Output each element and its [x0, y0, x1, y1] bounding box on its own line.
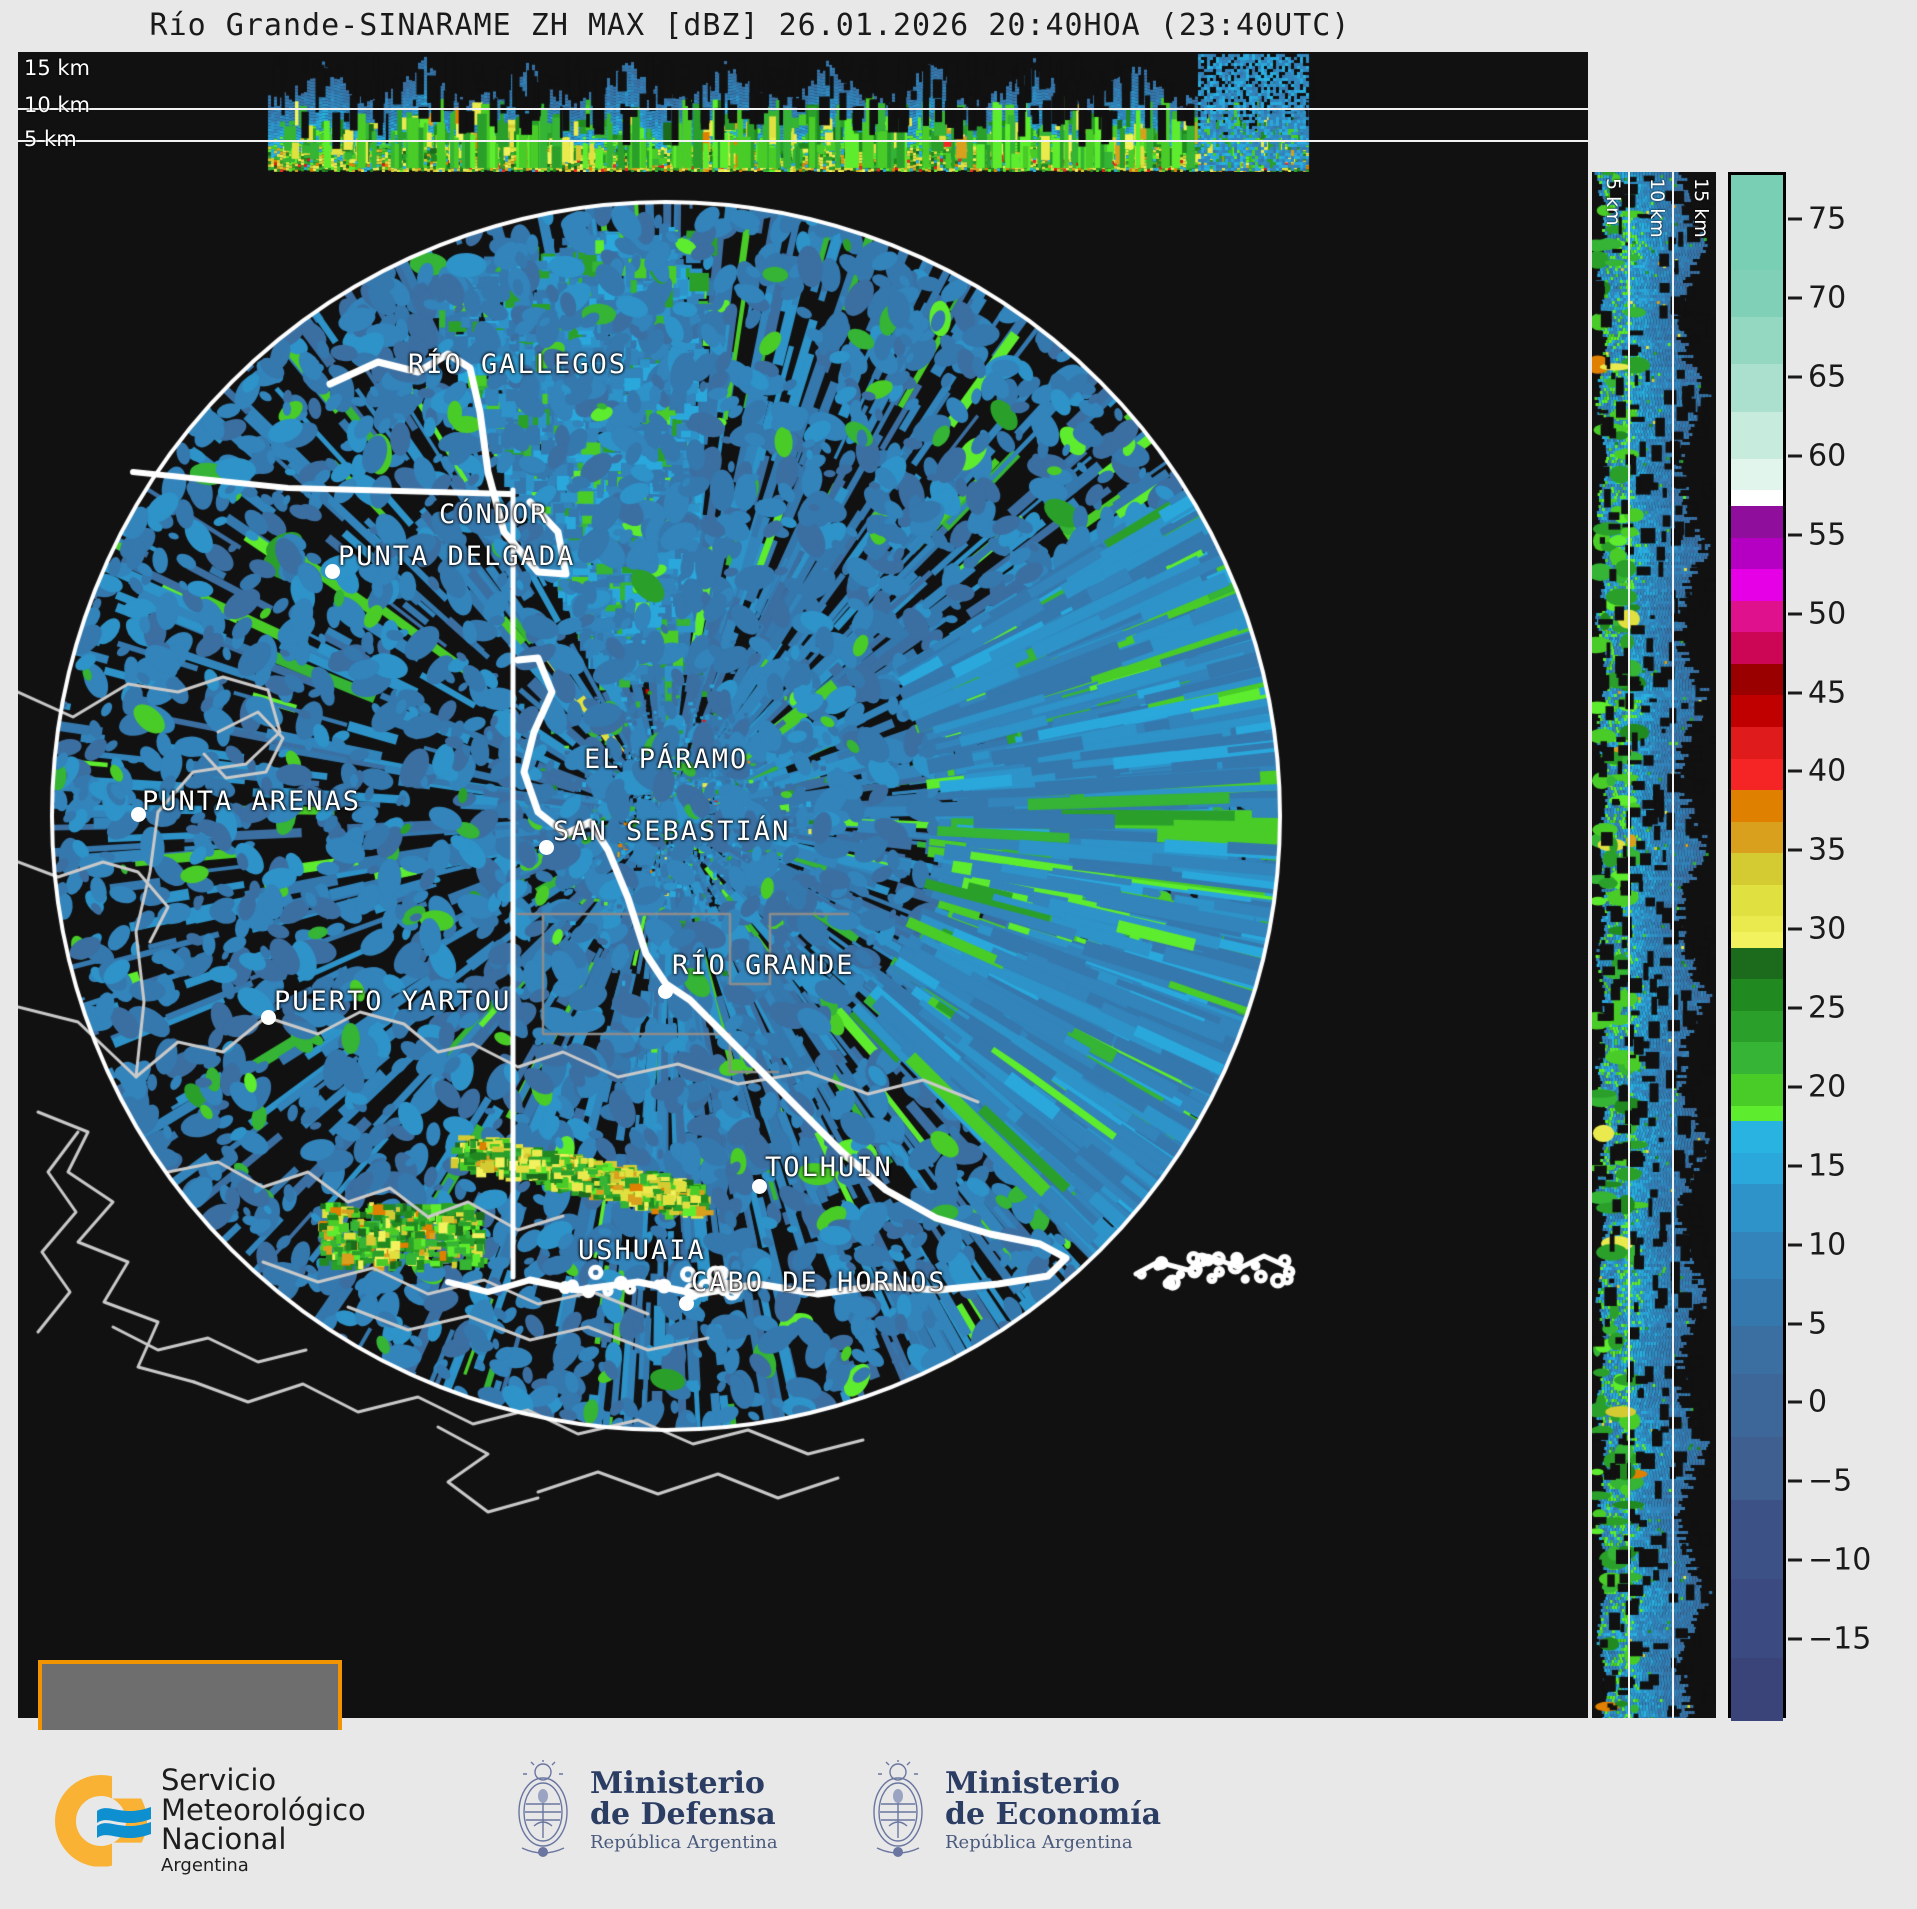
colorbar-segment — [1731, 1074, 1783, 1106]
colorbar-tick-mark — [1788, 1164, 1802, 1167]
colorbar-tick-mark — [1788, 928, 1802, 931]
logo-ministerio-de-economia: Ministerio de Economía República Argenti… — [865, 1760, 1161, 1860]
colorbar-tick: 5 — [1788, 1306, 1827, 1341]
height-label-15km: 15 km — [24, 56, 90, 80]
colorbar-segment — [1731, 790, 1783, 822]
logo-servicio-meteorologico-nacional: Servicio Meteorológico Nacional Argentin… — [55, 1766, 366, 1875]
ministerio-defensa-text: Ministerio de Defensa República Argentin… — [590, 1768, 778, 1853]
city-marker-san-sebasti-n — [539, 840, 554, 855]
colorbar-tick: 70 — [1788, 281, 1846, 316]
colorbar-tick: 35 — [1788, 833, 1846, 868]
colorbar-tick: 50 — [1788, 596, 1846, 631]
smn-logo-text: Servicio Meteorológico Nacional Argentin… — [161, 1766, 366, 1875]
colorbar-tick-label: 50 — [1808, 596, 1846, 631]
colorbar-tick-label: 75 — [1808, 202, 1846, 237]
height-label-v-5km: 5 km — [1602, 178, 1624, 226]
colorbar-tick-mark — [1788, 1480, 1802, 1483]
colorbar-tick-mark — [1788, 612, 1802, 615]
colorbar — [1728, 172, 1788, 1718]
colorbar-segment — [1731, 932, 1783, 948]
colorbar-tick-label: 20 — [1808, 1069, 1846, 1104]
city-marker-puerto-yartou — [261, 1010, 276, 1025]
colorbar-tick-label: 30 — [1808, 912, 1846, 947]
colorbar-tick-label: 5 — [1808, 1306, 1827, 1341]
smn-sub: Argentina — [161, 1857, 366, 1875]
colorbar-tick-mark — [1788, 849, 1802, 852]
height-label-v-15km: 15 km — [1690, 178, 1712, 238]
colorbar-tick-mark — [1788, 533, 1802, 536]
smn-logo-icon — [55, 1775, 147, 1867]
colorbar-segment — [1731, 1279, 1783, 1326]
colorbar-tick-label: 10 — [1808, 1227, 1846, 1262]
colorbar-tick-label: 40 — [1808, 754, 1846, 789]
colorbar-tick-label: 60 — [1808, 438, 1846, 473]
colorbar-segment — [1731, 1232, 1783, 1279]
colorbar-tick-mark — [1788, 691, 1802, 694]
defensa-line-1: Ministerio — [590, 1768, 778, 1800]
colorbar-tick-label: 15 — [1808, 1148, 1846, 1183]
height-label-v-10km: 10 km — [1646, 178, 1668, 238]
right-cross-section-panel: 5 km 10 km 15 km — [1592, 172, 1716, 1718]
colorbar-tick-mark — [1788, 1007, 1802, 1010]
colorbar-segment — [1731, 601, 1783, 633]
colorbar-segment — [1731, 1658, 1783, 1721]
colorbar-segment — [1731, 1042, 1783, 1074]
colorbar-segment — [1731, 916, 1783, 932]
colorbar-segment — [1731, 885, 1783, 917]
colorbar-tick: 60 — [1788, 438, 1846, 473]
colorbar-segment — [1731, 979, 1783, 1011]
colorbar-tick-mark — [1788, 1638, 1802, 1641]
colorbar-tick: 0 — [1788, 1385, 1827, 1420]
colorbar-tick-mark — [1788, 376, 1802, 379]
colorbar-tick: 20 — [1788, 1069, 1846, 1104]
height-label-5km: 5 km — [24, 127, 77, 151]
colorbar-tick-mark — [1788, 297, 1802, 300]
smn-wave-icon — [95, 1802, 153, 1842]
city-marker-cabo-de-hornos — [679, 1296, 694, 1311]
colorbar-tick-mark — [1788, 1401, 1802, 1404]
height-gridline-10km — [18, 108, 1588, 110]
smn-line-2: Meteorológico — [161, 1796, 366, 1826]
colorbar-tick: 25 — [1788, 991, 1846, 1026]
colorbar-segment — [1731, 1184, 1783, 1231]
colorbar-tick-labels: 757065605550454035302520151050−5−10−15 — [1788, 172, 1908, 1718]
colorbar-segment — [1731, 1011, 1783, 1043]
right-cross-section-canvas — [1592, 172, 1716, 1718]
colorbar-tick-label: 65 — [1808, 360, 1846, 395]
colorbar-segment — [1731, 1106, 1783, 1122]
colorbar-tick: 65 — [1788, 360, 1846, 395]
economia-sub: República Argentina — [945, 1834, 1161, 1853]
colorbar-gradient — [1728, 172, 1786, 1718]
top-cross-section-canvas — [18, 52, 1588, 172]
colorbar-segment — [1731, 632, 1783, 664]
colorbar-tick-label: 35 — [1808, 833, 1846, 868]
logo-ministerio-de-defensa: Ministerio de Defensa República Argentin… — [510, 1760, 778, 1860]
economia-line-2: de Economía — [945, 1799, 1161, 1831]
argentina-coat-of-arms-icon-2 — [865, 1760, 931, 1860]
colorbar-segment — [1731, 538, 1783, 570]
height-gridline-5km — [18, 140, 1588, 142]
colorbar-tick-mark — [1788, 218, 1802, 221]
colorbar-segment — [1731, 412, 1783, 459]
colorbar-tick-mark — [1788, 454, 1802, 457]
colorbar-tick-mark — [1788, 770, 1802, 773]
colorbar-segment — [1731, 1153, 1783, 1185]
economia-line-1: Ministerio — [945, 1768, 1161, 1800]
colorbar-segment — [1731, 1326, 1783, 1373]
colorbar-segment — [1731, 270, 1783, 317]
colorbar-segment — [1731, 490, 1783, 506]
colorbar-segment — [1731, 1437, 1783, 1500]
colorbar-segment — [1731, 759, 1783, 791]
colorbar-tick: −5 — [1788, 1464, 1852, 1499]
height-label-10km: 10 km — [24, 93, 90, 117]
colorbar-tick-label: 55 — [1808, 517, 1846, 552]
footer-logos: Servicio Meteorológico Nacional Argentin… — [0, 1730, 1917, 1909]
colorbar-segment — [1731, 459, 1783, 491]
colorbar-tick-label: −10 — [1808, 1543, 1871, 1578]
page-title: Río Grande-SINARAME ZH MAX [dBZ] 26.01.2… — [0, 8, 1500, 43]
smn-line-1: Servicio — [161, 1766, 366, 1796]
top-cross-section-panel: 15 km 10 km 5 km — [18, 52, 1588, 172]
height-gridline-v-10km — [1672, 172, 1674, 1718]
colorbar-tick-label: 45 — [1808, 675, 1846, 710]
colorbar-segment — [1731, 1500, 1783, 1579]
city-marker-punta-arenas — [131, 807, 146, 822]
colorbar-tick: 45 — [1788, 675, 1846, 710]
colorbar-tick-mark — [1788, 1243, 1802, 1246]
colorbar-segment — [1731, 853, 1783, 885]
height-gridline-v-5km — [1628, 172, 1630, 1718]
colorbar-segment — [1731, 175, 1783, 222]
colorbar-segment — [1731, 695, 1783, 727]
colorbar-tick-label: 70 — [1808, 281, 1846, 316]
colorbar-tick: 55 — [1788, 517, 1846, 552]
city-marker-punta-delgada — [325, 564, 340, 579]
colorbar-segment — [1731, 948, 1783, 980]
colorbar-tick: 10 — [1788, 1227, 1846, 1262]
colorbar-tick-label: 25 — [1808, 991, 1846, 1026]
colorbar-tick-mark — [1788, 1322, 1802, 1325]
smn-line-3: Nacional — [161, 1825, 366, 1855]
colorbar-segment — [1731, 506, 1783, 538]
colorbar-segment — [1731, 1121, 1783, 1153]
colorbar-tick-label: 0 — [1808, 1385, 1827, 1420]
colorbar-tick: −15 — [1788, 1622, 1871, 1657]
colorbar-tick-label: −5 — [1808, 1464, 1852, 1499]
colorbar-segment — [1731, 317, 1783, 364]
colorbar-segment — [1731, 1374, 1783, 1437]
colorbar-tick-mark — [1788, 1085, 1802, 1088]
colorbar-tick: 75 — [1788, 202, 1846, 237]
city-marker-tolhuin — [752, 1179, 767, 1194]
colorbar-segment — [1731, 1579, 1783, 1658]
colorbar-tick: 15 — [1788, 1148, 1846, 1183]
colorbar-tick: 40 — [1788, 754, 1846, 789]
colorbar-tick-mark — [1788, 1559, 1802, 1562]
colorbar-tick: −10 — [1788, 1543, 1871, 1578]
defensa-line-2: de Defensa — [590, 1799, 778, 1831]
ministerio-economia-text: Ministerio de Economía República Argenti… — [945, 1768, 1161, 1853]
colorbar-segment — [1731, 222, 1783, 269]
radar-ppi-panel[interactable]: RÍO GALLEGOSCÓNDORPUNTA DELGADAEL PÁRAMO… — [18, 172, 1588, 1718]
radar-ppi-canvas[interactable] — [18, 172, 1588, 1718]
colorbar-segment — [1731, 364, 1783, 411]
defensa-sub: República Argentina — [590, 1834, 778, 1853]
colorbar-tick: 30 — [1788, 912, 1846, 947]
argentina-coat-of-arms-icon — [510, 1760, 576, 1860]
colorbar-segment — [1731, 727, 1783, 759]
colorbar-segment — [1731, 822, 1783, 854]
colorbar-segment — [1731, 569, 1783, 601]
city-marker-r-o-grande — [658, 984, 673, 999]
colorbar-tick-label: −15 — [1808, 1622, 1871, 1657]
colorbar-segment — [1731, 664, 1783, 696]
